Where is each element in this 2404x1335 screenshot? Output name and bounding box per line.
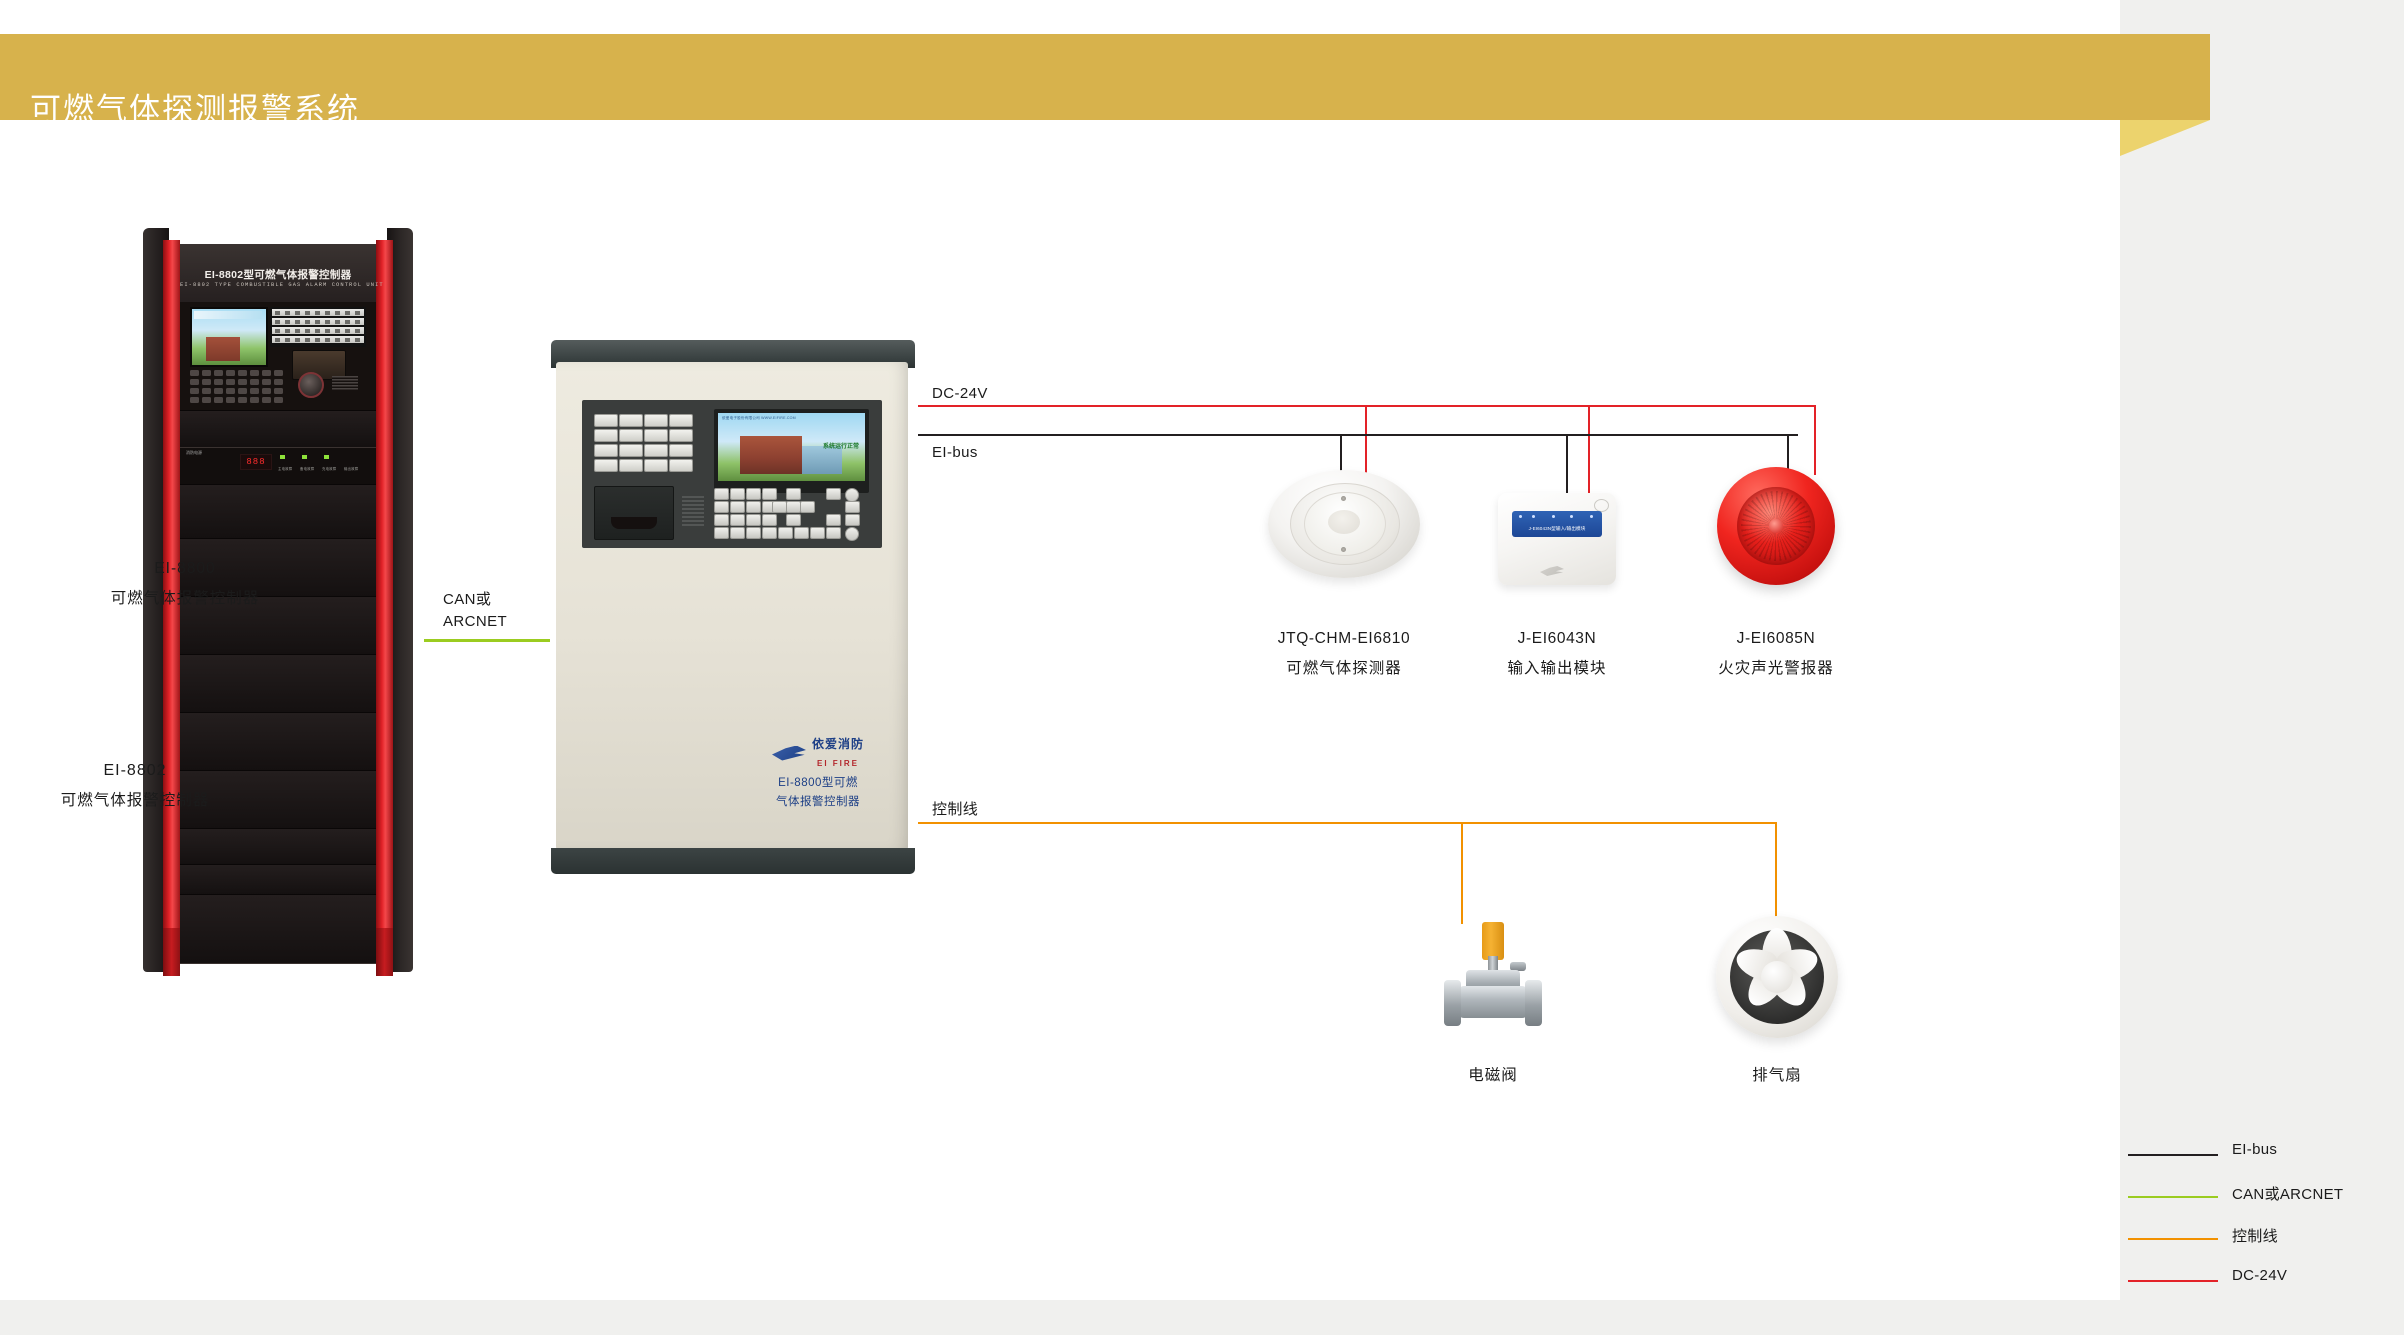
cabinet-blank-panel [180, 484, 376, 540]
panel-control-face: 依爱电子股份有限公司 WWW.EIFIRE.COM 系统运行正常 [582, 400, 882, 548]
exhaust-fan-device [1716, 916, 1838, 1038]
panel-key[interactable] [762, 514, 777, 526]
power-led [302, 455, 307, 459]
cabinet-red-foot-left [163, 928, 180, 976]
detector-screw-bottom [1341, 547, 1346, 552]
wire-control-trunk [918, 822, 1776, 824]
panel-key[interactable] [730, 527, 745, 539]
panel-key[interactable] [786, 514, 801, 526]
legend-row: 控制线 [2128, 1222, 2358, 1264]
panel-key[interactable] [800, 501, 815, 513]
panel-key[interactable] [794, 527, 809, 539]
wire-eibus-trunk [918, 434, 1798, 436]
panel-key[interactable] [762, 527, 777, 539]
legend-row: CAN或ARCNET [2128, 1180, 2358, 1222]
panel-lcd-screen: 依爱电子股份有限公司 WWW.EIFIRE.COM 系统运行正常 [718, 413, 865, 481]
panel-model-line2: 气体报警控制器 [748, 793, 888, 809]
power-status-label: 输出故障 [344, 466, 358, 471]
panel-indicator-button[interactable] [619, 429, 643, 442]
detector-screw-top [1341, 496, 1346, 501]
panel-speaker-grill [682, 496, 704, 526]
panel-indicator-buttons[interactable] [594, 414, 694, 474]
legend-swatch-eibus [2128, 1154, 2218, 1156]
exhaust-fan-caption: 排气扇 [1652, 1063, 1902, 1085]
cabinet-lcd-screen[interactable] [190, 307, 268, 367]
solenoid-valve-caption: 电磁阀 [1368, 1063, 1618, 1085]
valve-solenoid-coil [1482, 922, 1504, 960]
panel-key[interactable] [786, 488, 801, 500]
gas-detector-device [1268, 470, 1420, 582]
panel-key[interactable] [845, 501, 860, 513]
panel-indicator-button[interactable] [669, 444, 693, 457]
valve-flange-left [1444, 980, 1461, 1026]
ei8800-panel: 依爱电子股份有限公司 WWW.EIFIRE.COM 系统运行正常 依爱消防 EI… [548, 340, 918, 885]
cabinet-power-drawer: 消防电源 888 主电故障备电故障充电故障输出故障 [180, 446, 376, 484]
panel-model-line1: EI-8800型可燃 [748, 774, 888, 790]
panel-key[interactable] [714, 527, 729, 539]
panel-key[interactable] [746, 501, 761, 513]
solenoid-valve-name: 电磁阀 [1368, 1063, 1618, 1085]
panel-key[interactable] [826, 488, 841, 500]
module-housing: J-EI6043N型输入/输出模块 [1498, 493, 1616, 585]
panel-key[interactable] [826, 527, 841, 539]
banner-fold-decoration [2120, 120, 2210, 156]
power-voltage-display: 888 [240, 454, 272, 470]
io-module-caption: J-EI6043N 输入输出模块 [1432, 630, 1682, 678]
legend-swatch-can [2128, 1196, 2218, 1198]
sounder-name: 火灾声光警报器 [1651, 656, 1901, 678]
power-status-label: 充电故障 [322, 466, 336, 471]
wire-control-drop-valve [1461, 822, 1463, 924]
panel-indicator-button[interactable] [594, 429, 618, 442]
panel-indicator-button[interactable] [644, 414, 668, 427]
wire-eibus-drop-module [1566, 434, 1568, 500]
panel-indicator-button[interactable] [669, 414, 693, 427]
cabinet-red-foot-right [376, 928, 393, 976]
panel-indicator-button[interactable] [644, 429, 668, 442]
cabinet-blank-panel [180, 864, 376, 896]
panel-key[interactable] [714, 514, 729, 526]
panel-key[interactable] [746, 514, 761, 526]
solenoid-valve-device [1438, 922, 1548, 1032]
valve-body [1458, 986, 1528, 1018]
title-banner: 可燃气体探测报警系统 [0, 34, 2210, 120]
ei8800-caption: EI-8800 可燃气体报警控制器 [0, 560, 445, 608]
panel-keypad[interactable] [714, 488, 874, 540]
fan-hub [1761, 961, 1793, 993]
panel-indicator-button[interactable] [594, 459, 618, 472]
brand-name-en: EI FIRE [817, 759, 859, 768]
module-face-label: J-EI6043N型输入/输出模块 [1512, 511, 1602, 537]
io-module-device: J-EI6043N型输入/输出模块 [1498, 493, 1616, 585]
ei8802-caption: EI-8802 可燃气体报警控制器 [0, 762, 390, 810]
panel-brand-logo: 依爱消防 EI FIRE EI-8800型可燃 气体报警控制器 [748, 735, 888, 809]
panel-key[interactable] [762, 488, 777, 500]
power-status-label: 备电故障 [300, 466, 314, 471]
lcd-building [206, 337, 240, 361]
cabinet-blank-panel [180, 654, 376, 714]
panel-indicator-button[interactable] [644, 459, 668, 472]
io-module-name: 输入输出模块 [1432, 656, 1682, 678]
ei8802-desc: 可燃气体报警控制器 [0, 788, 390, 810]
detector-emblem [1328, 510, 1360, 534]
ei8802-model: EI-8802 [0, 762, 390, 780]
legend-label-eibus: EI-bus [2232, 1141, 2277, 1158]
ei-fire-logo-icon [772, 746, 806, 761]
cabinet-blank-panel [180, 828, 376, 866]
panel-indicator-button[interactable] [619, 444, 643, 457]
label-control-line: 控制线 [932, 798, 978, 819]
wire-can-arcnet [424, 639, 550, 642]
panel-key[interactable] [730, 488, 745, 500]
cabinet-speaker-grill [332, 376, 358, 390]
cabinet-blank-panel [180, 894, 376, 964]
printer-slot [611, 517, 657, 529]
ei8800-desc: 可燃气体报警控制器 [0, 586, 445, 608]
cabinet-blank-panel [180, 410, 376, 448]
legend-swatch-control [2128, 1238, 2218, 1240]
legend-label-dc24v: DC-24V [2232, 1267, 2287, 1284]
io-module-model: J-EI6043N [1432, 630, 1682, 648]
panel-printer[interactable] [594, 486, 674, 540]
panel-indicator-button[interactable] [669, 429, 693, 442]
ei8800-model: EI-8800 [0, 560, 445, 578]
ei-fire-logo-icon [1540, 566, 1564, 576]
label-eibus: EI-bus [932, 444, 978, 461]
legend-label-can: CAN或ARCNET [2232, 1183, 2343, 1204]
module-face-text: J-EI6043N型输入/输出模块 [1512, 526, 1602, 532]
panel-key[interactable] [730, 514, 745, 526]
power-led [280, 455, 285, 459]
panel-indicator-button[interactable] [619, 459, 643, 472]
panel-key[interactable] [746, 527, 761, 539]
sounder-center-dome [1769, 519, 1783, 533]
cabinet-title-cn: EI-8802型可燃气体报警控制器 [180, 267, 376, 282]
brand-name-cn: 依爱消防 [812, 737, 864, 751]
panel-indicator-button[interactable] [644, 444, 668, 457]
cabinet-control-face [180, 302, 376, 410]
cabinet-indicator-panel [270, 307, 366, 347]
power-led [324, 455, 329, 459]
wire-control-drop-fan [1775, 822, 1777, 918]
lcd-header-text: 依爱电子股份有限公司 WWW.EIFIRE.COM [722, 416, 796, 421]
panel-key[interactable] [786, 501, 801, 513]
exhaust-fan-name: 排气扇 [1652, 1063, 1902, 1085]
sounder-device [1717, 467, 1835, 585]
legend-label-control: 控制线 [2232, 1225, 2278, 1246]
panel-indicator-button[interactable] [594, 444, 618, 457]
legend-row: DC-24V [2128, 1264, 2358, 1306]
wire-dc24v-drop-module [1588, 405, 1590, 497]
page-title: 可燃气体探测报警系统 [30, 84, 360, 129]
panel-key[interactable] [714, 488, 729, 500]
valve-flange-right [1525, 980, 1542, 1026]
panel-key[interactable] [730, 501, 745, 513]
cabinet-keypad[interactable] [190, 370, 288, 406]
panel-key[interactable] [845, 527, 859, 541]
legend-swatch-dc24v [2128, 1280, 2218, 1282]
panel-key[interactable] [845, 488, 859, 502]
cabinet-title-en: EI-8802 TYPE COMBUSTIBLE GAS ALARM CONTR… [180, 282, 376, 288]
panel-key[interactable] [714, 501, 729, 513]
panel-key[interactable] [826, 514, 841, 526]
panel-key[interactable] [810, 527, 825, 539]
lcd-building [740, 436, 802, 474]
cabinet-rotary-knob[interactable] [298, 372, 324, 398]
panel-lcd[interactable]: 依爱电子股份有限公司 WWW.EIFIRE.COM 系统运行正常 [714, 409, 869, 493]
lcd-status-text: 系统运行正常 [823, 441, 859, 450]
panel-indicator-button[interactable] [669, 459, 693, 472]
power-status-label: 主电故障 [278, 466, 292, 471]
panel-indicator-button[interactable] [619, 414, 643, 427]
can-label-line1: CAN或 [443, 588, 491, 609]
wire-dc24v-trunk [918, 405, 1816, 407]
sounder-caption: J-EI6085N 火灾声光警报器 [1651, 630, 1901, 678]
panel-key[interactable] [746, 488, 761, 500]
panel-key[interactable] [772, 501, 787, 513]
sounder-model: J-EI6085N [1651, 630, 1901, 648]
panel-key[interactable] [845, 514, 860, 526]
wire-dc24v-drop-sounder [1814, 405, 1816, 475]
panel-base [551, 848, 915, 874]
power-drawer-tag: 消防电源 [186, 450, 202, 456]
legend: EI-bus CAN或ARCNET 控制线 DC-24V [2128, 1138, 2358, 1306]
can-label-line2: ARCNET [443, 613, 507, 630]
label-dc24v: DC-24V [932, 385, 988, 402]
lcd-sky [194, 311, 262, 319]
lcd-building-secondary [802, 446, 842, 474]
panel-key[interactable] [778, 527, 793, 539]
panel-indicator-button[interactable] [594, 414, 618, 427]
cabinet-header-plate: EI-8802型可燃气体报警控制器 EI-8802 TYPE COMBUSTIB… [180, 244, 376, 302]
legend-row: EI-bus [2128, 1138, 2358, 1180]
